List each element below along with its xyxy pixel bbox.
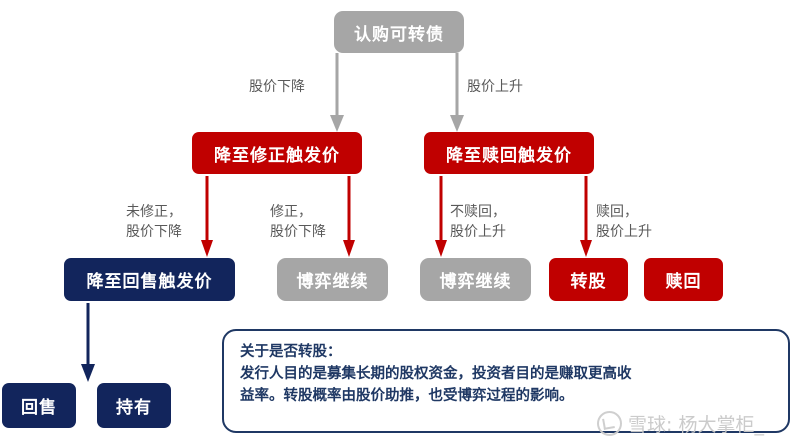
edge-label-no-redemption: 不赎回， 股价上升	[450, 202, 506, 242]
node-label: 博弈继续	[297, 267, 369, 292]
arrow-redemption	[578, 176, 594, 258]
node-fall-to-revision-trigger[interactable]: 降至修正触发价	[192, 132, 362, 174]
note-heading: 关于是否转股：	[240, 341, 774, 363]
edge-label-revision: 修正， 股价下降	[270, 202, 326, 242]
node-game-continues-right[interactable]: 博弈继续	[420, 258, 531, 301]
arrow-putback-to-options	[80, 303, 96, 383]
edge-label-price-down: 股价下降	[249, 77, 305, 97]
node-label: 回售	[21, 393, 57, 418]
arrow-revision	[341, 176, 357, 258]
node-put-back[interactable]: 回售	[2, 383, 76, 428]
node-fall-to-putback-trigger[interactable]: 降至回售触发价	[64, 258, 235, 301]
node-label: 降至回售触发价	[87, 267, 213, 292]
note-box-about-conversion: 关于是否转股： 发行人目的是募集长期的股权资金，投资者目的是赚取更高收 益率。转…	[222, 329, 790, 433]
node-subscribe-convertible-bond[interactable]: 认购可转债	[334, 11, 464, 53]
node-label: 认购可转债	[354, 20, 444, 45]
edge-label-no-revision: 未修正， 股价下降	[126, 202, 182, 242]
edge-label-redemption: 赎回， 股价上升	[596, 202, 652, 242]
node-hold[interactable]: 持有	[97, 383, 171, 428]
node-label: 博弈继续	[440, 267, 512, 292]
node-label: 赎回	[666, 267, 702, 292]
flowchart-canvas: 认购可转债 股价下降 股价上升 降至修正触发价 降至赎回触发价	[0, 0, 800, 446]
node-redeem[interactable]: 赎回	[644, 258, 723, 301]
node-fall-to-redemption-trigger[interactable]: 降至赎回触发价	[424, 132, 594, 174]
arrow-root-to-revision	[328, 53, 346, 133]
node-label: 降至赎回触发价	[446, 141, 572, 166]
arrow-no-redemption	[433, 176, 449, 258]
node-convert-to-shares[interactable]: 转股	[549, 258, 628, 301]
node-label: 降至修正触发价	[214, 141, 340, 166]
note-body: 发行人目的是募集长期的股权资金，投资者目的是赚取更高收 益率。转股概率由股价助推…	[240, 363, 774, 407]
edge-label-price-up: 股价上升	[467, 77, 523, 97]
node-label: 持有	[116, 393, 152, 418]
node-game-continues-left[interactable]: 博弈继续	[277, 258, 388, 301]
arrow-no-revision	[199, 176, 215, 258]
arrow-root-to-redemption	[448, 53, 466, 133]
node-label: 转股	[571, 267, 607, 292]
